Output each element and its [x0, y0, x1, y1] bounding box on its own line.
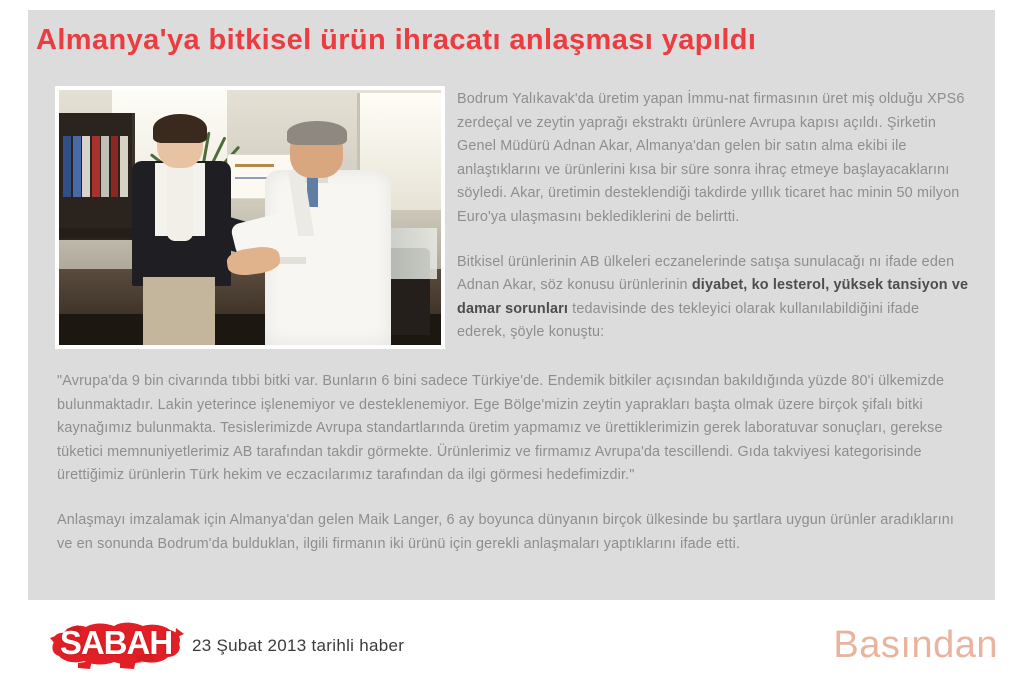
- shelf-divider: [59, 228, 132, 238]
- paragraph-intro: Bodrum Yalıkavak'da üretim yapan İmmu-na…: [457, 88, 969, 230]
- basindan-brand: Basından: [833, 624, 998, 667]
- paragraph-quote: "Avrupa'da 9 bin civarında tıbbi bitki v…: [57, 370, 971, 488]
- page-root: Almanya'ya bitkisel ürün ihracatı anlaşm…: [0, 0, 1024, 683]
- person-right: [265, 126, 391, 345]
- person-left: [132, 118, 231, 345]
- bottles-icon: [391, 228, 437, 279]
- article-photo: [55, 86, 445, 349]
- footer: SABAH 23 Şubat 2013 tarihli haber Basınd…: [0, 604, 1024, 683]
- sabah-logo-text: SABAH: [48, 624, 184, 662]
- handshake-photo: [59, 90, 441, 345]
- article-right-column: Bodrum Yalıkavak'da üretim yapan İmmu-na…: [457, 88, 969, 345]
- sabah-logo[interactable]: SABAH: [48, 612, 184, 674]
- paragraph-indications: Bitkisel ürünlerinin AB ülkeleri eczanel…: [457, 251, 969, 345]
- article-wide-column: "Avrupa'da 9 bin civarında tıbbi bitki v…: [57, 370, 971, 556]
- paragraph-agreement: Anlaşmayı imzalamak için Almanya'dan gel…: [57, 509, 971, 556]
- news-date: 23 Şubat 2013 tarihli haber: [192, 636, 404, 656]
- page-title: Almanya'ya bitkisel ürün ihracatı anlaşm…: [36, 24, 936, 57]
